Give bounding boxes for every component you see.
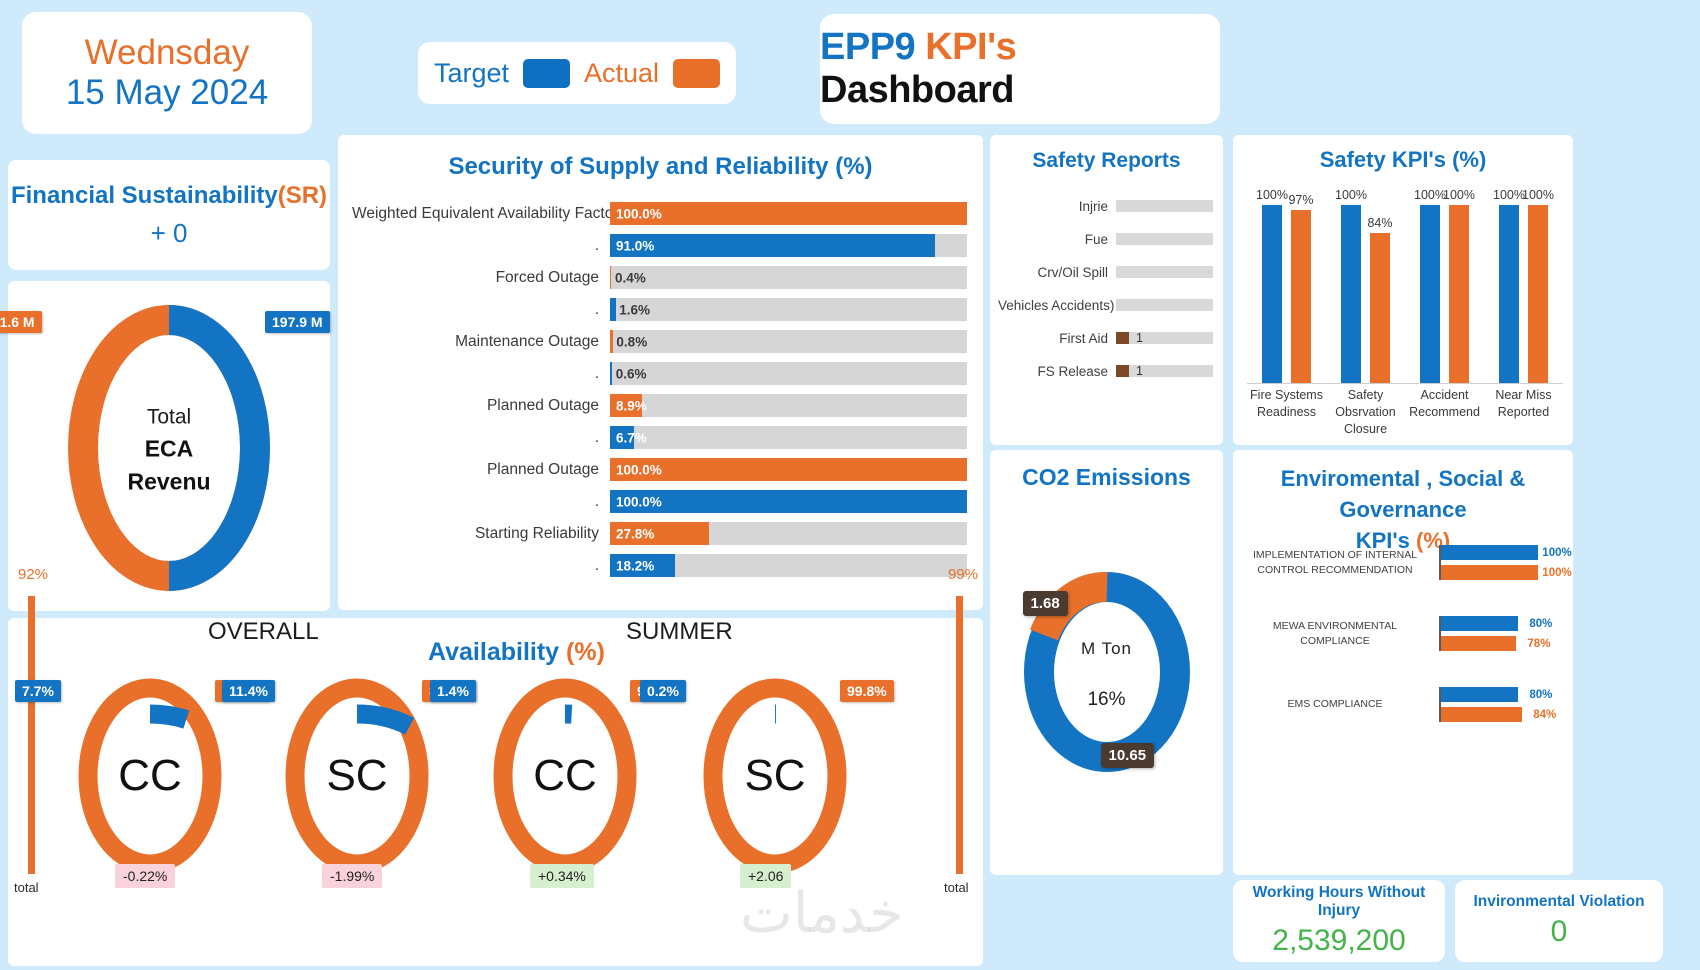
left-spark-label: 92%	[18, 566, 48, 583]
safety-kpi-category: Fire Systems Readiness	[1247, 387, 1326, 438]
security-bar-rows: Weighted Equivalent Availability Factor1…	[352, 201, 967, 585]
safety-report-base	[1116, 266, 1213, 278]
gauge-delta-badge: -0.22%	[115, 864, 175, 888]
availability-gauge: CC1.4%98.6%+0.34%	[478, 676, 653, 886]
security-bar-track: 0.6%	[610, 362, 967, 385]
co2-donut: 1.68 10.65 M Ton 16%	[1017, 565, 1197, 785]
safety-kpi-bar: 100%	[1262, 205, 1282, 383]
security-bar-value: 0.8%	[616, 334, 647, 349]
security-of-supply-card: Security of Supply and Reliability (%) W…	[338, 135, 983, 610]
security-bar-row: .1.6%	[352, 297, 967, 322]
right-spark-label: 99%	[948, 566, 978, 583]
co2-chip-bottom: 10.65	[1101, 743, 1155, 768]
availability-group-overall: OVERALL	[208, 618, 319, 646]
safety-report-count: 1	[1136, 364, 1143, 378]
safety-kpi-category: Near Miss Reported	[1484, 387, 1563, 438]
security-bar-value: 8.9%	[616, 398, 647, 413]
safety-kpi-group: 100%100%	[1420, 193, 1469, 383]
security-bar-row: Maintenance Outage0.8%	[352, 329, 967, 354]
violation-value: 0	[1551, 915, 1568, 949]
security-title: Security of Supply and Reliability (%)	[338, 153, 983, 181]
safety-kpi-bar-label: 84%	[1367, 216, 1392, 230]
safety-kpi-bar-label: 100%	[1443, 188, 1475, 202]
gauge-target-label: 0.2%	[640, 680, 686, 702]
security-bar-label: Weighted Equivalent Availability Factor	[352, 205, 610, 223]
safety-report-label: First Aid	[998, 331, 1116, 346]
esg-group: MEWA ENVIRONMENTAL COMPLIANCE80%78%	[1239, 616, 1565, 651]
safety-kpi-bar-label: 97%	[1288, 193, 1313, 207]
safety-report-count: 1	[1136, 331, 1143, 345]
safety-kpi-categories: Fire Systems ReadinessSafety Obsrvation …	[1247, 387, 1563, 438]
safety-kpi-title: Safety KPI's (%)	[1320, 147, 1487, 172]
financial-heading: Financial Sustainability	[11, 182, 278, 209]
safety-report-track	[1116, 200, 1213, 212]
safety-report-row: Crv/Oil Spill	[998, 257, 1213, 287]
safety-kpi-bar: 100%	[1528, 205, 1548, 383]
safety-kpi-bar: 100%	[1449, 205, 1469, 383]
availability-title: Availability	[428, 638, 566, 666]
co2-chip-top: 1.68	[1023, 591, 1068, 616]
safety-report-base	[1116, 299, 1213, 311]
violation-label: Invironmental Violation	[1473, 893, 1644, 911]
esg-bar: 78%	[1441, 636, 1516, 651]
security-bar-label: .	[352, 493, 610, 511]
date-full: 15 May 2024	[66, 73, 268, 113]
security-bar-track: 91.0%	[610, 234, 967, 257]
eca-target-label: 197.9 M	[265, 311, 330, 333]
safety-report-track: 1	[1116, 332, 1213, 344]
esg-label: MEWA ENVIRONMENTAL COMPLIANCE	[1239, 619, 1439, 647]
gauge-target-label: 11.4%	[222, 680, 275, 702]
safety-reports-card: Safety Reports InjrieFueCrv/Oil SpillVeh…	[990, 135, 1223, 445]
dashboard-title-card: EPP9 KPI's Dashboard	[820, 14, 1220, 124]
title-kpis: KPI's	[925, 26, 1016, 68]
security-bar-value: 6.7%	[616, 430, 647, 445]
esg-bar-value: 80%	[1529, 618, 1552, 630]
security-bar-track: 100.0%	[610, 490, 967, 513]
safety-report-base	[1116, 233, 1213, 245]
gauge-name: CC	[533, 751, 597, 801]
safety-kpi-group: 100%100%	[1499, 193, 1548, 383]
eca-actual-label: 201.6 M	[0, 311, 42, 333]
security-bar-track: 6.7%	[610, 426, 967, 449]
esg-bar-value: 84%	[1533, 709, 1556, 721]
security-bar-label: Starting Reliability	[352, 525, 610, 543]
safety-report-track: 1	[1116, 365, 1213, 377]
security-bar-value: 27.8%	[616, 526, 654, 541]
safety-report-row: Injrie	[998, 191, 1213, 221]
security-bar-row: Starting Reliability27.8%	[352, 521, 967, 546]
title-dashboard: Dashboard	[820, 69, 1014, 111]
safety-report-fill	[1116, 365, 1129, 377]
availability-gauge: SC11.4%88.6%-1.99%	[270, 676, 445, 886]
eca-center-line3: Revenu	[127, 466, 210, 499]
safety-kpi-category: Safety Obsrvation Closure	[1326, 387, 1405, 438]
esg-rows: IMPLEMENTATION OF INTERNAL CONTROL RECOM…	[1239, 545, 1565, 758]
safety-kpi-bar-label: 100%	[1414, 188, 1446, 202]
availability-title-unit: (%)	[566, 638, 605, 666]
security-bar-row: Planned Outage8.9%	[352, 393, 967, 418]
safety-report-label: Fue	[998, 232, 1116, 247]
safety-reports-title: Safety Reports	[990, 149, 1223, 173]
safety-kpi-card: Safety KPI's (%) 100%97%100%84%100%100%1…	[1233, 135, 1573, 445]
esg-title-line1: Enviromental , Social & Governance	[1281, 466, 1526, 522]
co2-emissions-card: CO2 Emissions 1.68 10.65 M Ton 16%	[990, 450, 1223, 875]
safety-report-label: Crv/Oil Spill	[998, 265, 1116, 280]
security-bar-fill	[610, 330, 613, 353]
esg-card: Enviromental , Social & Governance KPI's…	[1233, 450, 1573, 875]
security-bar-fill	[610, 298, 616, 321]
working-hours-label: Working Hours Without Injury	[1233, 884, 1445, 920]
right-spark-bar	[956, 596, 963, 874]
esg-group: EMS COMPLIANCE80%84%	[1239, 687, 1565, 722]
left-spark-bar	[28, 596, 35, 874]
security-bar-fill	[610, 234, 935, 257]
security-bar-row: .100.0%	[352, 489, 967, 514]
financial-sustainability-card: Financial Sustainability(SR) + 0	[8, 160, 330, 270]
esg-bar: 100%	[1441, 545, 1538, 560]
safety-kpi-bar: 100%	[1420, 205, 1440, 383]
safety-report-row: FS Release1	[998, 356, 1213, 386]
esg-label: EMS COMPLIANCE	[1239, 697, 1439, 711]
safety-report-track	[1116, 233, 1213, 245]
safety-kpi-bar: 84%	[1370, 233, 1390, 383]
security-bar-value: 18.2%	[616, 558, 654, 573]
safety-kpi-bar: 100%	[1499, 205, 1519, 383]
gauge-name: SC	[744, 751, 805, 801]
safety-kpi-bar-label: 100%	[1335, 188, 1367, 202]
esg-bar: 80%	[1441, 616, 1518, 631]
financial-unit: (SR)	[278, 182, 327, 209]
legend-actual-swatch	[673, 59, 720, 88]
esg-bar: 80%	[1441, 687, 1518, 702]
safety-kpi-plot: 100%97%100%84%100%100%100%100%	[1247, 193, 1563, 383]
eca-center-text: Total ECA Revenu	[127, 402, 210, 499]
safety-report-row: Fue	[998, 224, 1213, 254]
security-bar-value: 100.0%	[616, 494, 662, 509]
title-epp9: EPP9	[820, 26, 925, 68]
safety-report-label: Vehicles Accidents)	[998, 298, 1116, 313]
esg-bars: 100%100%	[1439, 545, 1565, 580]
security-bar-value: 0.4%	[615, 270, 646, 285]
security-bar-value: 100.0%	[616, 206, 662, 221]
esg-bars: 80%78%	[1439, 616, 1565, 651]
security-bar-value: 1.6%	[619, 302, 650, 317]
esg-bar-value: 100%	[1542, 567, 1571, 579]
gauge-target-label: 7.7%	[15, 680, 61, 702]
gauge-name: SC	[326, 751, 387, 801]
co2-title: CO2 Emissions	[990, 464, 1223, 491]
safety-report-row: First Aid1	[998, 323, 1213, 353]
legend-target-label: Target	[434, 58, 509, 89]
working-hours-value: 2,539,200	[1272, 924, 1405, 958]
security-bar-fill	[610, 362, 612, 385]
security-bar-track: 8.9%	[610, 394, 967, 417]
gauge-actual-label: 99.8%	[840, 680, 894, 702]
security-bar-label: .	[352, 365, 610, 383]
security-bar-track: 0.8%	[610, 330, 967, 353]
safety-report-label: FS Release	[998, 364, 1116, 379]
safety-kpi-category: Accident Recommend	[1405, 387, 1484, 438]
safety-report-base	[1116, 365, 1213, 377]
safety-report-fill	[1116, 332, 1129, 344]
safety-report-track	[1116, 299, 1213, 311]
esg-label: IMPLEMENTATION OF INTERNAL CONTROL RECOM…	[1239, 548, 1439, 576]
safety-report-row: Vehicles Accidents)	[998, 290, 1213, 320]
security-bar-track: 100.0%	[610, 202, 967, 225]
security-bar-value: 100.0%	[616, 462, 662, 477]
security-bar-track: 18.2%	[610, 554, 967, 577]
gauge-delta-badge: -1.99%	[322, 864, 382, 888]
availability-gauge: CC7.7%92.3%-0.22%	[63, 676, 238, 886]
financial-value: + 0	[151, 218, 188, 249]
security-bar-label: .	[352, 557, 610, 575]
safety-kpi-bar: 100%	[1341, 205, 1361, 383]
esg-bar-value: 78%	[1527, 638, 1550, 650]
security-bar-label: Planned Outage	[352, 397, 610, 415]
legend-target-swatch	[523, 59, 570, 88]
gauge-name: CC	[118, 751, 182, 801]
eca-center-line2: ECA	[127, 432, 210, 465]
legend-card: Target Actual	[418, 42, 736, 104]
safety-report-base	[1116, 332, 1213, 344]
gauge-delta-badge: +0.34%	[530, 864, 594, 888]
esg-bar: 100%	[1441, 565, 1538, 580]
security-bar-fill	[610, 458, 967, 481]
safety-kpi-axis	[1247, 383, 1563, 384]
security-bar-label: .	[352, 237, 610, 255]
security-bar-row: .6.7%	[352, 425, 967, 450]
security-bar-row: .91.0%	[352, 233, 967, 258]
security-bar-track: 100.0%	[610, 458, 967, 481]
security-bar-label: Planned Outage	[352, 461, 610, 479]
security-bar-label: .	[352, 301, 610, 319]
safety-kpi-bar-label: 100%	[1522, 188, 1554, 202]
security-bar-row: .18.2%	[352, 553, 967, 578]
security-bar-value: 91.0%	[616, 238, 654, 253]
availability-group-summer: SUMMER	[626, 618, 733, 646]
security-bar-value: 0.6%	[616, 366, 647, 381]
security-bar-row: Weighted Equivalent Availability Factor1…	[352, 201, 967, 226]
co2-unit: M Ton	[1081, 639, 1132, 659]
security-bar-row: Planned Outage100.0%	[352, 457, 967, 482]
security-bar-track: 0.4%	[610, 266, 967, 289]
esg-group: IMPLEMENTATION OF INTERNAL CONTROL RECOM…	[1239, 545, 1565, 580]
security-bar-fill	[610, 202, 967, 225]
co2-pct: 16%	[1081, 689, 1132, 711]
safety-report-track	[1116, 266, 1213, 278]
esg-bar-value: 80%	[1529, 689, 1552, 701]
left-spark-caption: total	[14, 880, 39, 895]
safety-report-base	[1116, 200, 1213, 212]
esg-bars: 80%84%	[1439, 687, 1565, 722]
security-bar-label: .	[352, 429, 610, 447]
gauge-target-label: 1.4%	[430, 680, 476, 702]
safety-kpi-group: 100%97%	[1262, 193, 1311, 383]
working-hours-card: Working Hours Without Injury 2,539,200	[1233, 880, 1445, 962]
security-bar-track: 27.8%	[610, 522, 967, 545]
date-day: Wednsday	[85, 33, 250, 73]
security-bar-label: Maintenance Outage	[352, 333, 610, 351]
eca-donut: Total ECA Revenu 201.6 M 197.9 M	[59, 303, 279, 598]
security-bar-fill	[610, 490, 967, 513]
security-bar-row: .0.6%	[352, 361, 967, 386]
safety-kpi-bar-label: 100%	[1493, 188, 1525, 202]
date-card: Wednsday 15 May 2024	[22, 12, 312, 134]
security-bar-label: Forced Outage	[352, 269, 610, 287]
co2-center-text: M Ton 16%	[1081, 639, 1132, 711]
eca-center-line1: Total	[127, 402, 210, 432]
legend-actual-label: Actual	[584, 58, 659, 89]
availability-card: Availability (%) OVERALL SUMMER 92% tota…	[8, 618, 983, 966]
security-bar-track: 1.6%	[610, 298, 967, 321]
safety-reports-rows: InjrieFueCrv/Oil SpillVehicles Accidents…	[998, 191, 1213, 389]
right-spark-caption: total	[944, 880, 969, 895]
eca-revenue-card: Total ECA Revenu 201.6 M 197.9 M	[8, 281, 330, 611]
safety-kpi-bar-label: 100%	[1256, 188, 1288, 202]
esg-bar-value: 100%	[1542, 547, 1571, 559]
safety-kpi-group: 100%84%	[1341, 193, 1390, 383]
gauge-delta-badge: +2.06	[740, 864, 791, 888]
environmental-violation-card: Invironmental Violation 0	[1455, 880, 1663, 962]
security-bar-row: Forced Outage0.4%	[352, 265, 967, 290]
security-bar-fill	[610, 266, 611, 289]
availability-gauge: SC0.2%99.8%+2.06	[688, 676, 863, 886]
safety-report-label: Injrie	[998, 199, 1116, 214]
safety-kpi-bar: 97%	[1291, 210, 1311, 383]
esg-bar: 84%	[1441, 707, 1522, 722]
